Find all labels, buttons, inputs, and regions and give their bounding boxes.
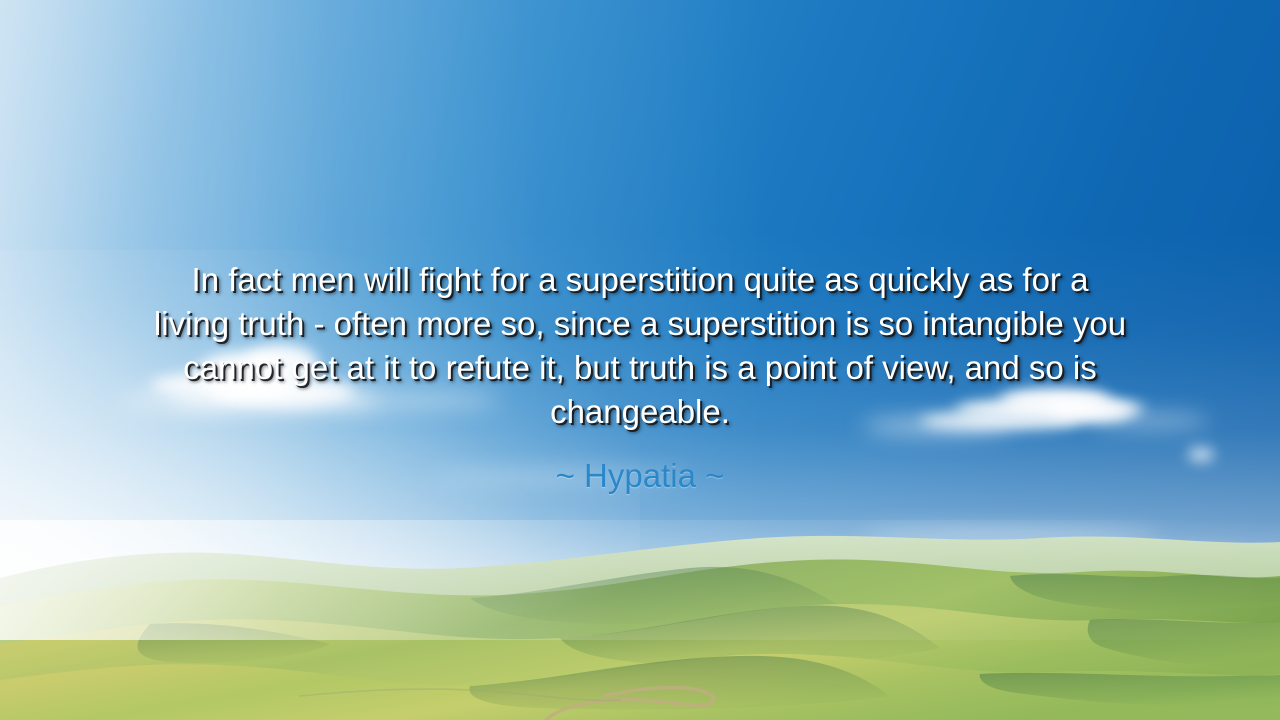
quote-wallpaper: In fact men will fight for a superstitio… (0, 0, 1280, 720)
hill-haze-left (0, 520, 1280, 640)
rolling-hills (0, 520, 1280, 720)
quote-author: ~ Hypatia ~ (0, 456, 1280, 496)
quote-text: In fact men will fight for a superstitio… (150, 258, 1130, 434)
quote-block: In fact men will fight for a superstitio… (0, 258, 1280, 496)
